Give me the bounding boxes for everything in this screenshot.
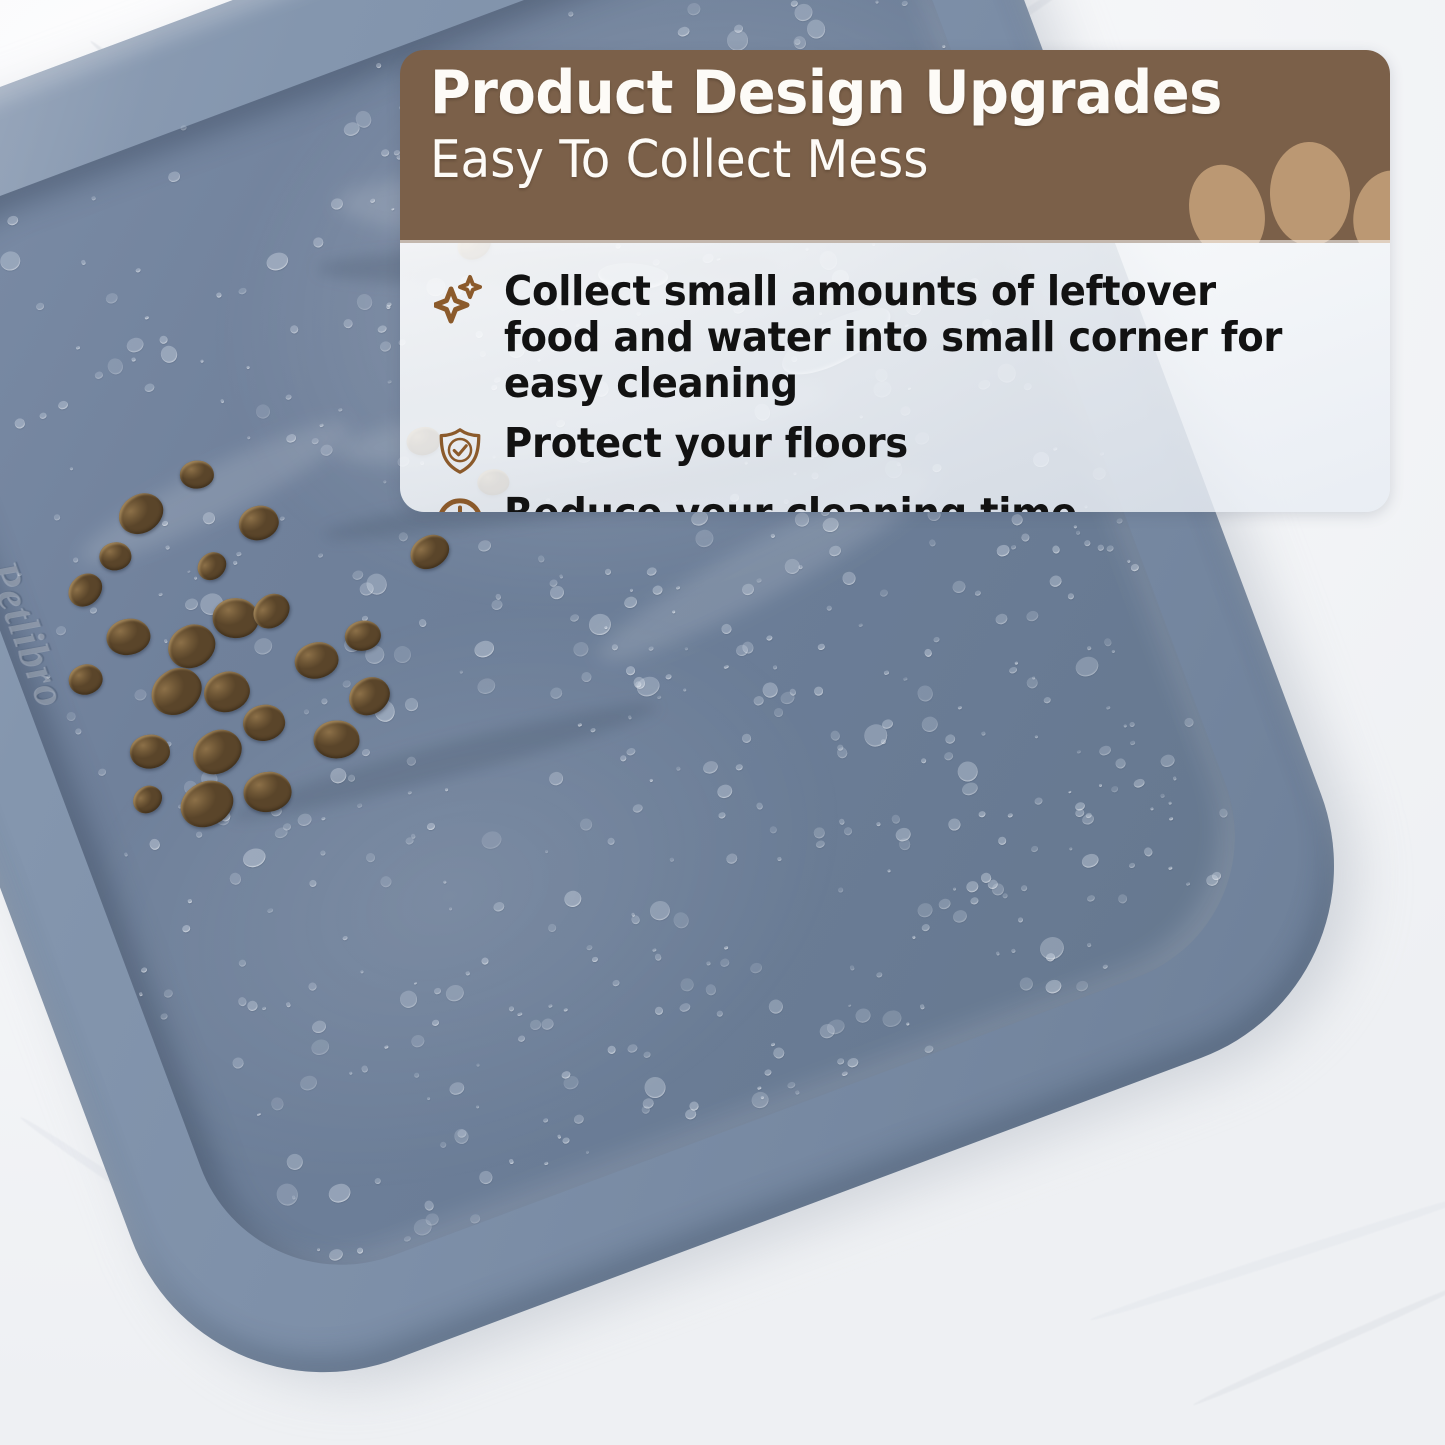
list-item-label: Collect small amounts of leftover food a… bbox=[504, 269, 1314, 407]
page-subtitle: Easy To Collect Mess bbox=[430, 132, 1323, 189]
page-title: Product Design Upgrades bbox=[430, 62, 1323, 126]
product-marketing-image: Petlibro Product Design Upgrades Easy To… bbox=[0, 0, 1445, 1445]
feature-list: Collect small amounts of leftover food a… bbox=[400, 243, 1390, 512]
clock-icon bbox=[434, 495, 486, 512]
list-item-label: Reduce your cleaning time bbox=[504, 491, 1077, 512]
feature-card: Product Design Upgrades Easy To Collect … bbox=[400, 50, 1390, 512]
list-item-label: Protect your floors bbox=[504, 421, 908, 467]
card-header: Product Design Upgrades Easy To Collect … bbox=[400, 50, 1390, 243]
sparkle-icon bbox=[434, 273, 486, 325]
shield-check-icon bbox=[434, 425, 486, 477]
list-item: Collect small amounts of leftover food a… bbox=[434, 269, 1366, 407]
list-item: Reduce your cleaning time bbox=[434, 491, 1366, 512]
list-item: Protect your floors bbox=[434, 421, 1366, 477]
